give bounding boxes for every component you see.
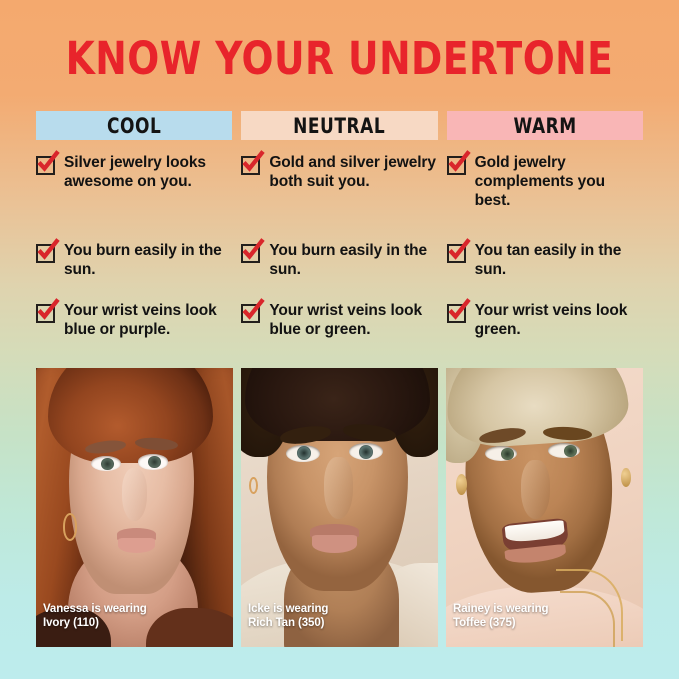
model-photo-row: Vanessa is wearing Ivory (110) Icke is w… [36, 368, 643, 647]
stud-earring-icon [456, 474, 467, 495]
caption-line-1: Icke is wearing [248, 603, 328, 617]
list-item: You tan easily in the sun. [447, 241, 643, 279]
header-warm: WARM [447, 111, 643, 140]
header-neutral: NEUTRAL [241, 111, 437, 140]
list-item: You burn easily in the sun. [36, 241, 232, 279]
list-item-label: You burn easily in the sun. [269, 241, 437, 279]
header-warm-label: WARM [513, 114, 576, 138]
checkbox-icon [241, 244, 261, 264]
checklist-column-neutral: Gold and silver jewelry both suit you. Y… [241, 153, 437, 353]
list-item: Your wrist veins look blue or green. [241, 301, 437, 339]
header-cool: COOL [36, 111, 232, 140]
checkbox-icon [36, 156, 56, 176]
header-neutral-label: NEUTRAL [293, 114, 385, 138]
model-photo-neutral: Icke is wearing Rich Tan (350) [241, 368, 438, 647]
caption-line-2: Toffee (375) [453, 617, 548, 631]
page-title: KNOW YOUR UNDERTONE [24, 34, 655, 84]
checklist-column-cool: Silver jewelry looks awesome on you. You… [36, 153, 232, 353]
list-item-label: Gold jewelry complements you best. [475, 153, 643, 210]
list-item: Your wrist veins look green. [447, 301, 643, 339]
checkbox-icon [36, 304, 56, 324]
list-item: Gold and silver jewelry both suit you. [241, 153, 437, 191]
list-item-label: Your wrist veins look green. [475, 301, 643, 339]
checkbox-icon [447, 156, 467, 176]
photo-caption-cool: Vanessa is wearing Ivory (110) [43, 603, 147, 630]
stud-earring-icon [249, 477, 258, 494]
caption-line-1: Vanessa is wearing [43, 603, 147, 617]
list-item: Your wrist veins look blue or purple. [36, 301, 232, 339]
list-item-label: You burn easily in the sun. [64, 241, 232, 279]
list-item-label: Silver jewelry looks awesome on you. [64, 153, 232, 191]
infographic-canvas: KNOW YOUR UNDERTONE COOL NEUTRAL WARM Si… [0, 0, 679, 679]
list-item: You burn easily in the sun. [241, 241, 437, 279]
photo-caption-warm: Rainey is wearing Toffee (375) [453, 603, 548, 630]
caption-line-2: Rich Tan (350) [248, 617, 328, 631]
list-item-label: Your wrist veins look blue or purple. [64, 301, 232, 339]
caption-line-2: Ivory (110) [43, 617, 147, 631]
checklist-columns: Silver jewelry looks awesome on you. You… [36, 153, 643, 353]
checkbox-icon [447, 304, 467, 324]
list-item-label: Your wrist veins look blue or green. [269, 301, 437, 339]
photo-caption-neutral: Icke is wearing Rich Tan (350) [248, 603, 328, 630]
checkbox-icon [241, 156, 261, 176]
list-item: Gold jewelry complements you best. [447, 153, 643, 210]
checkbox-icon [447, 244, 467, 264]
checkbox-icon [241, 304, 261, 324]
caption-line-1: Rainey is wearing [453, 603, 548, 617]
list-item-label: You tan easily in the sun. [475, 241, 643, 279]
model-photo-cool: Vanessa is wearing Ivory (110) [36, 368, 233, 647]
list-item: Silver jewelry looks awesome on you. [36, 153, 232, 191]
checkbox-icon [36, 244, 56, 264]
list-item-label: Gold and silver jewelry both suit you. [269, 153, 437, 191]
checklist-column-warm: Gold jewelry complements you best. You t… [447, 153, 643, 353]
header-cool-label: COOL [107, 114, 161, 138]
model-photo-warm: Rainey is wearing Toffee (375) [446, 368, 643, 647]
undertone-header-row: COOL NEUTRAL WARM [36, 111, 643, 140]
